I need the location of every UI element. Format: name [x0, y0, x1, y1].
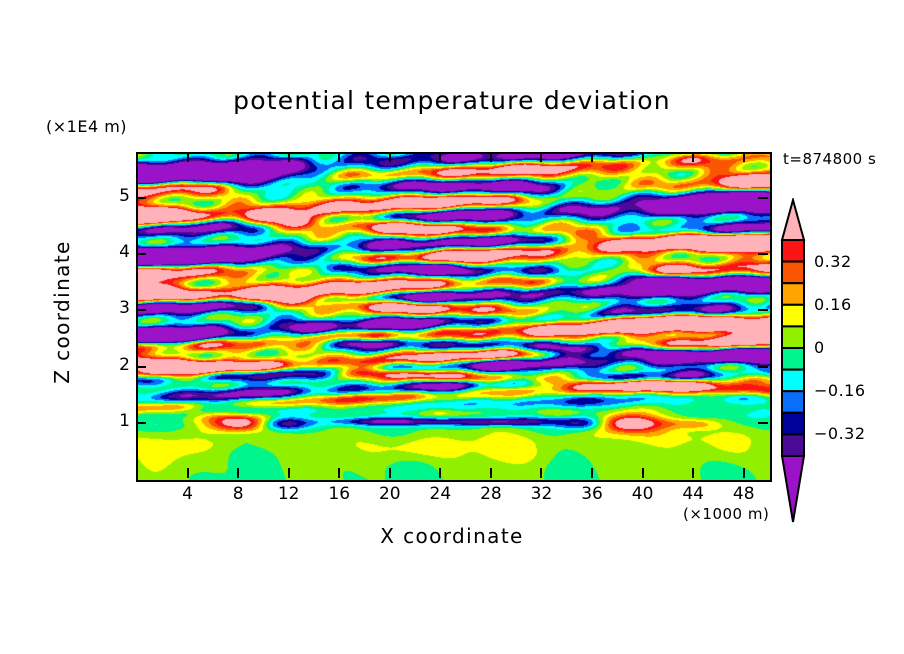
colorbar-tick-labels: 0.320.160−0.16−0.32: [0, 0, 904, 654]
colorbar-tick-label: 0.16: [814, 295, 852, 314]
colorbar-tick-label: 0: [814, 338, 825, 357]
colorbar-tick-label: −0.16: [814, 381, 866, 400]
colorbar-tick-label: 0.32: [814, 252, 852, 271]
colorbar-tick-label: −0.32: [814, 424, 866, 443]
